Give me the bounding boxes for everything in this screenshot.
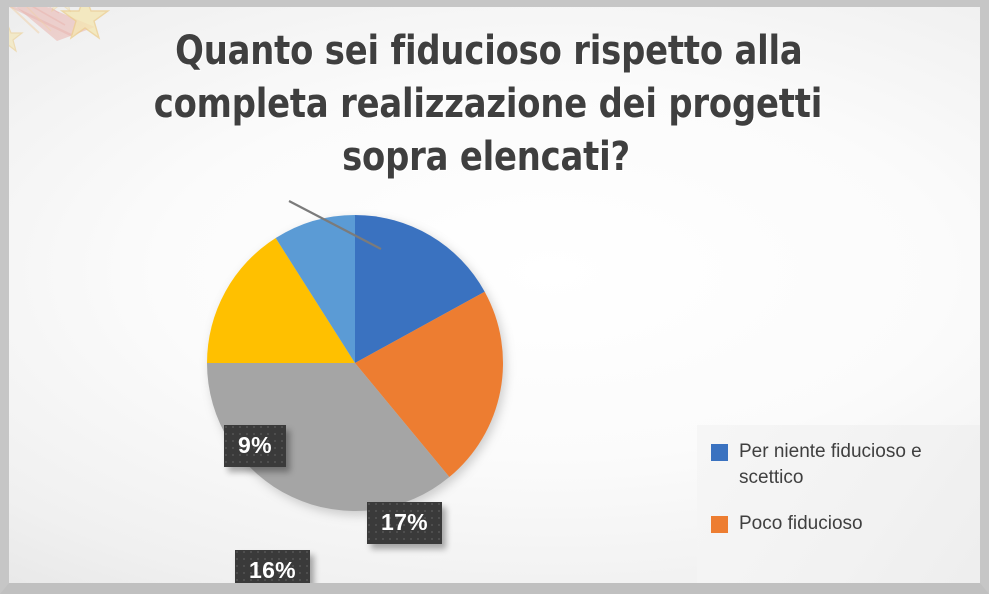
legend-label-1: Per niente fiducioso e scettico [739,439,971,491]
legend-item-per-niente-fiducioso-e-scettico[interactable]: Per niente fiducioso e scettico [711,439,971,491]
pie-graphic [205,213,505,513]
legend-swatch-icon-3 [711,584,728,594]
data-label-slice-1: 17% [367,502,442,544]
legend-item-poco-fiducioso[interactable]: Poco fiducioso [711,511,971,537]
legend-swatch-icon-1 [711,444,728,461]
chart-legend: Per niente fiducioso e scettico Poco fid… [697,425,981,594]
legend-item-ne-fiducioso-ne-scettico[interactable]: Né fiducioso né scettico [711,579,971,594]
data-label-slice-5: 9% [224,425,286,467]
presentation-slide: Quanto sei fiducioso rispetto alla compl… [0,0,989,594]
data-label-slice-2: 22% [413,589,488,594]
legend-swatch-icon-2 [711,516,728,533]
pie-slices [205,213,505,513]
slide-title: Quanto sei fiducioso rispetto alla compl… [9,25,980,184]
pie-chart: 17% 22% 36% 16% 9% Per niente fiducioso … [9,203,989,594]
title-line-1: Quanto sei fiducioso rispetto alla [38,25,951,78]
title-line-3: sopra elencati? [38,131,951,184]
legend-label-3: Né fiducioso né scettico [739,579,940,594]
legend-spacer-1 [711,557,971,579]
data-label-slice-4: 16% [235,550,310,592]
legend-label-2: Poco fiducioso [739,511,863,537]
title-line-2: completa realizzazione dei progetti [38,78,951,131]
